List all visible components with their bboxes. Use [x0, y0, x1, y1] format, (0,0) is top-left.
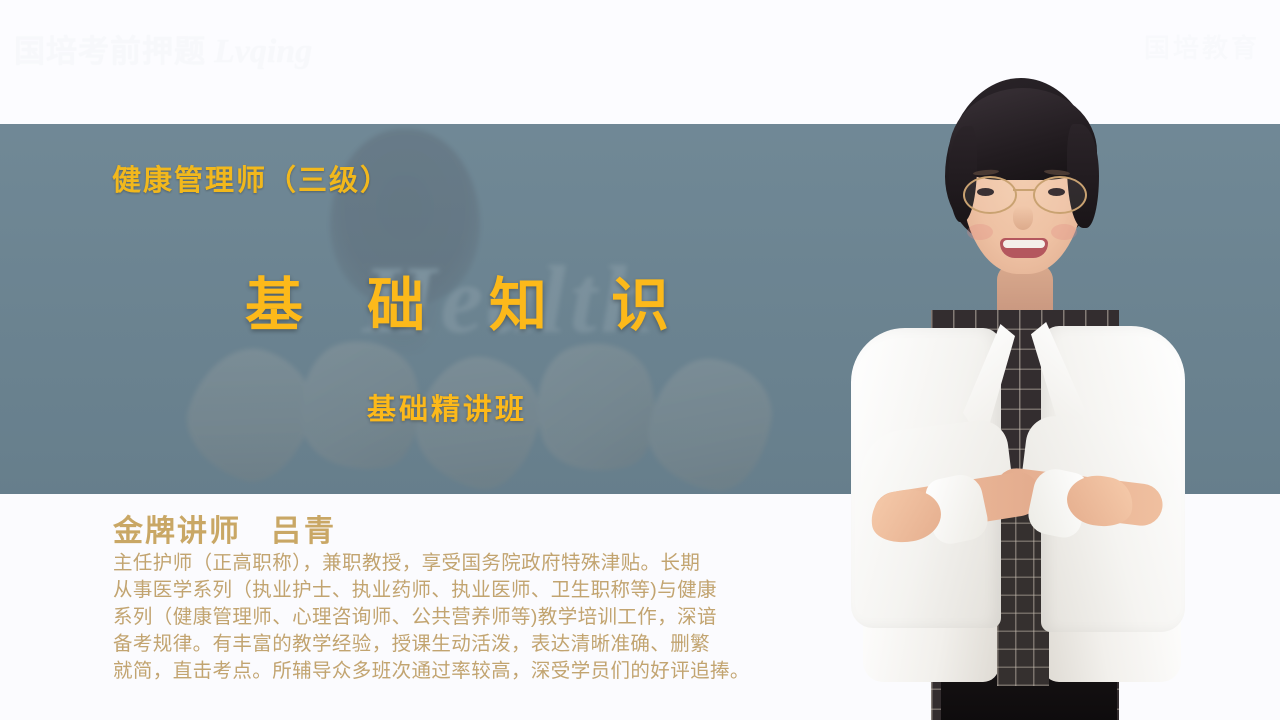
ghost-hand [173, 334, 327, 494]
presenter-teeth [1003, 240, 1045, 248]
lecturer-name: 吕青 [271, 515, 337, 548]
eyeglass-lens [963, 176, 1017, 214]
bio-line: 从事医学系列（执业护士、执业药师、执业医师、卫生职称等)与健康 [113, 577, 803, 604]
presenter-cheek [967, 224, 993, 240]
lecturer-heading: 金牌讲师吕青 [113, 506, 337, 550]
lecturer-bio: 主任护师（正高职称），兼职教授，享受国务院政府特殊津贴。长期 从事医学系列（执业… [113, 550, 803, 685]
bio-line: 就简，直击考点。所辅导众多班次通过率较高，深受学员们的好评追捧。 [113, 658, 803, 685]
slide-canvas: Health 国培考前押题Lvqing 国培教育 健康管理师（三级） 基础知识 … [0, 0, 1280, 720]
ghost-hand [642, 351, 779, 494]
presenter-mouth [1000, 238, 1048, 258]
presenter-cheek [1051, 224, 1077, 240]
ghost-hand [520, 329, 671, 487]
presenter-portrait [845, 78, 1185, 720]
eyeglass-bridge [1013, 189, 1035, 191]
presenter-nose [1013, 206, 1033, 230]
course-name: 健康管理师（三级） [112, 157, 391, 199]
bio-line: 备考规律。有丰富的教学经验，授课生动活泼，表达清晰准确、删繁 [113, 631, 803, 658]
bio-line: 主任护师（正高职称），兼职教授，享受国务院政府特殊津贴。长期 [113, 550, 803, 577]
subject-title: 基础知识 [245, 258, 733, 342]
bio-line: 系列（健康管理师、心理咨询师、公共营养师等)教学培训工作，深谙 [113, 604, 803, 631]
class-type: 基础精讲班 [367, 386, 527, 428]
eyeglass-lens [1033, 176, 1087, 214]
lecturer-title: 金牌讲师 [113, 515, 241, 548]
